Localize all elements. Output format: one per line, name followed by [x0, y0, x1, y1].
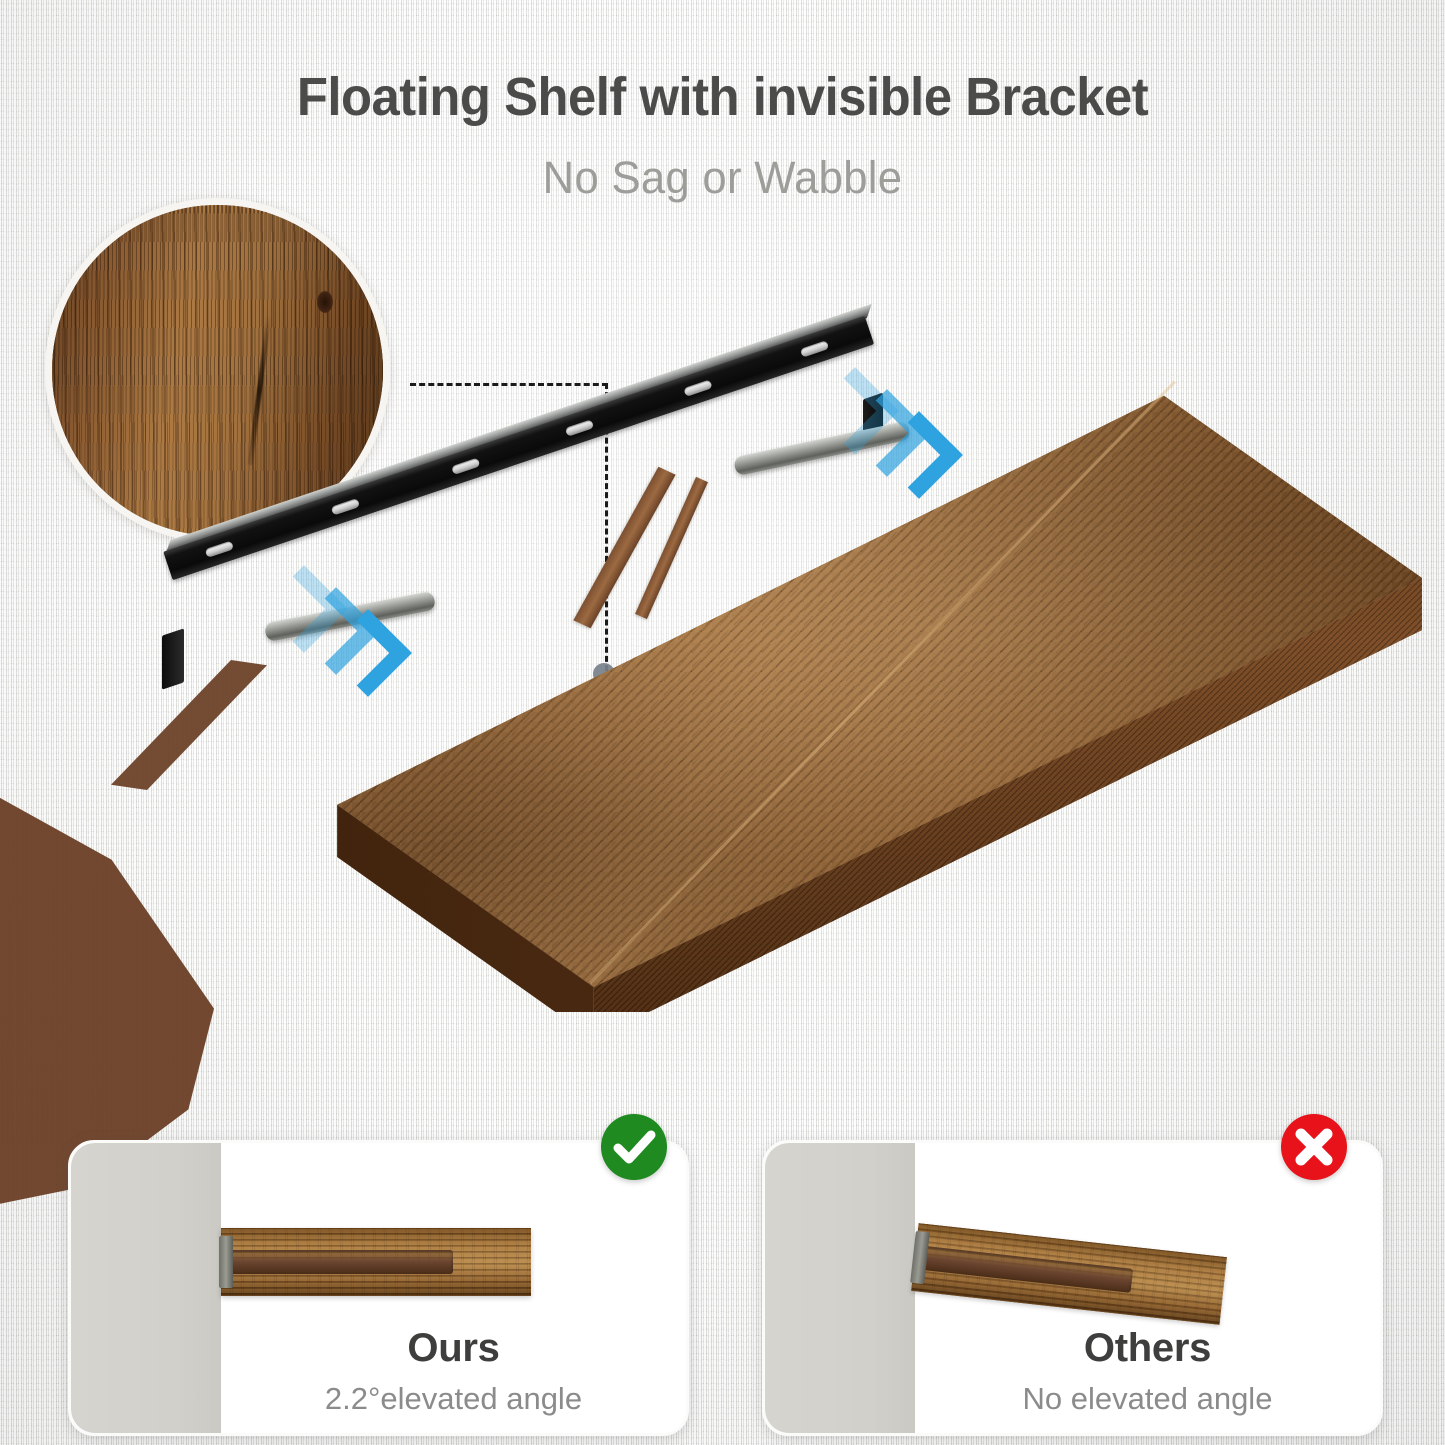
mini-shelf-rod-cavity	[227, 1250, 453, 1274]
comparison-card-ours[interactable]: Ours 2.2°elevated angle	[68, 1140, 689, 1436]
card-label-ours: Ours	[221, 1326, 686, 1371]
page-subtitle: No Sag or Wabble	[22, 152, 1424, 204]
check-glyph	[601, 1114, 667, 1180]
page-title: Floating Shelf with invisible Bracket	[43, 66, 1401, 128]
check-icon	[601, 1114, 667, 1180]
shelf-cross-section-ours	[221, 1228, 531, 1296]
bracket-screw-hole	[800, 340, 829, 357]
card-wall-block	[765, 1143, 915, 1433]
card-sub-others: No elevated angle	[915, 1381, 1380, 1417]
card-wall-block	[71, 1143, 221, 1433]
floating-shelf-board	[132, 392, 1422, 1012]
cross-glyph	[1281, 1114, 1347, 1180]
wood-knot-detail	[317, 291, 333, 313]
card-sub-ours: 2.2°elevated angle	[221, 1381, 686, 1417]
comparison-card-others[interactable]: Others No elevated angle	[762, 1140, 1383, 1436]
shelf-cross-section-others	[911, 1223, 1227, 1325]
cross-icon	[1281, 1114, 1347, 1180]
product-infographic: Floating Shelf with invisible Bracket No…	[0, 0, 1445, 1445]
card-label-others: Others	[915, 1326, 1380, 1371]
mini-shelf-wall-pin	[219, 1236, 233, 1288]
